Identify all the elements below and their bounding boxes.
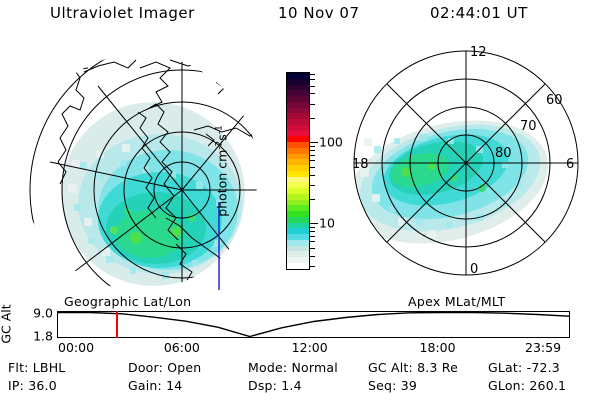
status-field: Door: Open: [128, 360, 201, 375]
status-field-label: Door:: [128, 360, 167, 375]
colorbar-minor-tick: [310, 199, 315, 200]
mlat-label-60: 60: [546, 93, 563, 108]
colorbar-axis-title: photon cm-2s-1: [214, 125, 229, 216]
mlt-label-0: 0: [470, 262, 478, 277]
altitude-ytick-low: 1.8: [19, 329, 53, 344]
altitude-curve: [58, 312, 569, 337]
colorbar-minor-tick: [310, 79, 315, 80]
colorbar-minor-tick: [310, 146, 315, 147]
status-field-label: Mode:: [248, 360, 291, 375]
colorbar-minor-tick: [310, 93, 315, 94]
colorbar-minor-tick: [310, 227, 315, 228]
colorbar-band: [287, 263, 309, 269]
status-field-label: Dsp:: [248, 378, 281, 393]
altitude-xtick-label: 18:00: [420, 340, 456, 355]
apex-plot[interactable]: 12 6 0 18 60 70 80: [350, 42, 590, 292]
status-field-value: 8.3 Re: [417, 360, 458, 375]
colorbar-minor-tick: [310, 175, 315, 176]
altitude-axis-label: GC Alt: [0, 304, 14, 343]
apex-polar-grid: [354, 51, 578, 275]
colorbar-title-exp1: -2: [214, 141, 224, 150]
status-field: GLat: -72.3: [488, 360, 560, 375]
status-field: Seq: 39: [368, 378, 417, 393]
observation-date: 10 Nov 07: [278, 4, 360, 22]
colorbar-minor-tick: [310, 86, 315, 87]
status-field-value: Normal: [291, 360, 337, 375]
status-field-value: LBHL: [33, 360, 66, 375]
colorbar-minor-tick: [310, 155, 315, 156]
page-title: Ultraviolet Imager: [50, 4, 195, 22]
status-bar: Flt: LBHLDoor: OpenMode: NormalGC Alt: 8…: [0, 360, 600, 400]
colorbar-minor-tick: [310, 231, 315, 232]
altitude-xtick-label: 00:00: [58, 340, 94, 355]
mlat-label-70: 70: [520, 119, 537, 134]
colorbar-minor-tick: [310, 241, 315, 242]
status-field-value: 1.4: [281, 378, 301, 393]
status-field-value: 39: [401, 378, 417, 393]
status-field: IP: 36.0: [8, 378, 57, 393]
status-field: Flt: LBHL: [8, 360, 65, 375]
altitude-xtick-label: 12:00: [292, 340, 328, 355]
status-field-value: 14: [166, 378, 182, 393]
apex-plot-svg: 12 6 0 18 60 70 80: [350, 42, 590, 292]
header: Ultraviolet Imager 10 Nov 07 02:44:01 UT: [0, 4, 600, 28]
colorbar-tick-label: 10: [319, 216, 335, 231]
colorbar-title-main: photon cm: [215, 150, 230, 217]
mlt-label-18: 18: [352, 157, 369, 172]
status-field: GC Alt: 8.3 Re: [368, 360, 458, 375]
status-field-label: Flt:: [8, 360, 33, 375]
colorbar-minor-tick: [310, 118, 315, 119]
colorbar-minor-tick: [310, 104, 315, 105]
colorbar-title-exp2: -1: [214, 125, 224, 134]
status-field-label: IP:: [8, 378, 28, 393]
colorbar-title-mid: s: [215, 134, 230, 141]
colorbar-minor-tick: [310, 160, 315, 161]
status-field: Mode: Normal: [248, 360, 338, 375]
ultraviolet-imager-window: Ultraviolet Imager 10 Nov 07 02:44:01 UT: [0, 0, 600, 400]
mlt-label-6: 6: [566, 157, 574, 172]
colorbar-minor-tick: [310, 236, 315, 237]
status-field-label: GLon:: [488, 378, 529, 393]
status-field-value: Open: [167, 360, 201, 375]
observation-time: 02:44:01 UT: [430, 4, 528, 22]
colorbar-major-tick: [310, 223, 318, 224]
colorbar-minor-tick: [310, 248, 315, 249]
colorbar-minor-tick: [310, 185, 315, 186]
altitude-plot-frame: [57, 311, 570, 338]
mlt-label-12: 12: [470, 45, 487, 60]
status-field: GLon: 260.1: [488, 378, 566, 393]
colorbar-minor-tick: [310, 167, 315, 168]
status-field-label: GLat:: [488, 360, 527, 375]
status-field: Gain: 14: [128, 378, 182, 393]
colorbar-minor-tick: [310, 266, 315, 267]
altitude-timeline[interactable]: GC Alt 9.0 1.8 00:0006:0012:0018:0023:59: [0, 296, 600, 354]
colorbar-minor-tick: [310, 150, 315, 151]
colorbar[interactable]: photon cm-2s-1 10010: [266, 60, 352, 286]
altitude-xtick-label: 23:59: [525, 340, 561, 355]
altitude-ytick-high: 9.0: [19, 306, 53, 321]
colorbar-tick-label: 100: [319, 135, 343, 150]
status-field-label: Gain:: [128, 378, 166, 393]
status-field-value: 260.1: [529, 378, 566, 393]
time-cursor[interactable]: [116, 311, 118, 338]
status-field: Dsp: 1.4: [248, 378, 302, 393]
colorbar-gradient: [286, 72, 310, 270]
colorbar-ticks: [310, 72, 318, 270]
colorbar-minor-tick: [310, 74, 315, 75]
status-field-value: 36.0: [28, 378, 57, 393]
mlat-label-80: 80: [495, 146, 512, 161]
colorbar-major-tick: [310, 142, 318, 143]
altitude-xtick-label: 06:00: [164, 340, 200, 355]
status-field-value: -72.3: [527, 360, 560, 375]
status-field-label: GC Alt:: [368, 360, 417, 375]
status-field-label: Seq:: [368, 378, 401, 393]
colorbar-minor-tick: [310, 256, 315, 257]
